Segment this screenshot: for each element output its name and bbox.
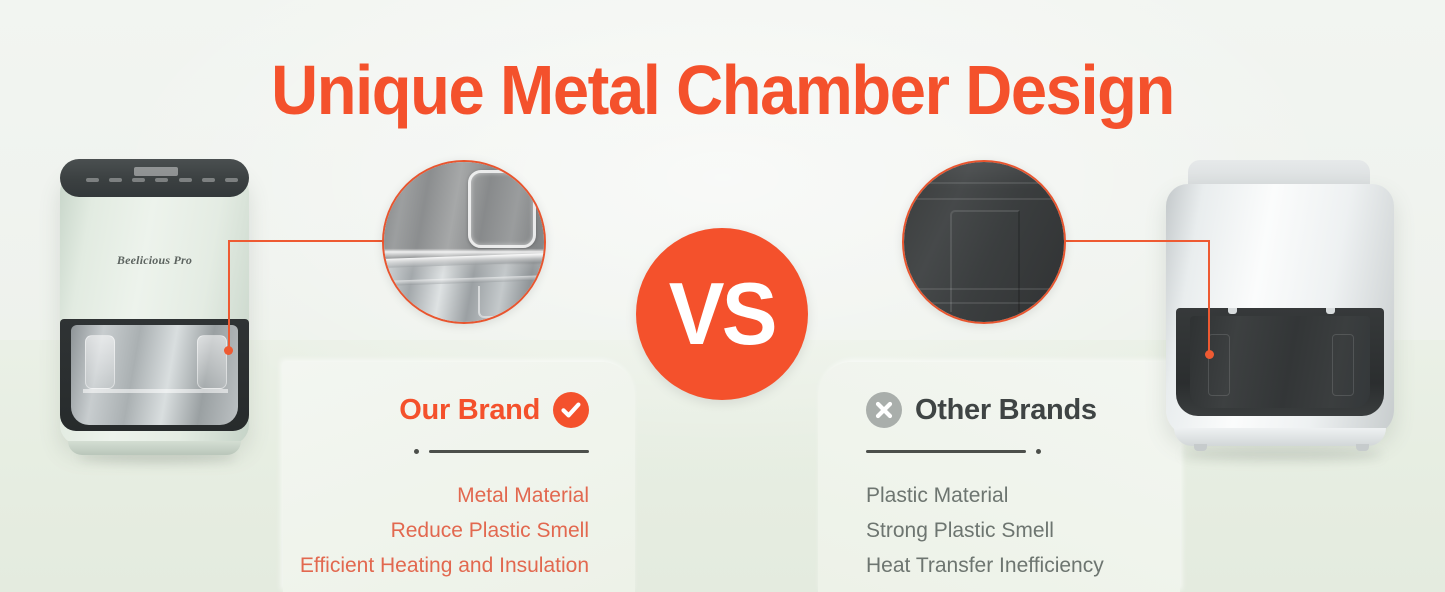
product-brand-label: Beelicious Pro	[52, 253, 257, 268]
other-brands-divider	[866, 449, 1041, 454]
plastic-seam-top	[902, 182, 1066, 184]
list-item: Metal Material	[300, 478, 589, 513]
other-brands-product-image	[1160, 160, 1405, 460]
our-brand-feature-list: Metal Material Reduce Plastic Smell Effi…	[300, 478, 589, 583]
chamber-clip-left	[1228, 308, 1237, 314]
other-brands-heading-row: Other Brands	[866, 392, 1097, 428]
our-brand-card: Our Brand Metal Material Reduce Plastic …	[283, 362, 635, 592]
right-leader-vertical	[1208, 240, 1210, 356]
cross-circle-icon	[866, 392, 902, 428]
other-brands-feature-list: Plastic Material Strong Plastic Smell He…	[866, 478, 1104, 583]
chamber-edge-right	[1332, 334, 1354, 396]
chamber-edge-left	[1208, 334, 1230, 396]
left-leader-vertical	[228, 240, 230, 352]
steel-band-upper	[382, 253, 546, 268]
product-control-panel	[60, 159, 249, 197]
chamber-handle-left	[85, 335, 115, 389]
left-leader-horizontal	[228, 240, 386, 242]
divider-dot	[1036, 449, 1041, 454]
chamber-clip-right	[1326, 308, 1335, 314]
control-buttons	[86, 172, 238, 188]
list-item: Efficient Heating and Insulation	[300, 548, 589, 583]
list-item: Reduce Plastic Smell	[300, 513, 589, 548]
black-plastic-texture	[902, 160, 1066, 324]
left-leader-dot	[224, 346, 233, 355]
list-item: Strong Plastic Smell	[866, 513, 1104, 548]
divider-dot	[414, 449, 419, 454]
our-brand-divider	[414, 449, 589, 454]
check-circle-icon	[553, 392, 589, 428]
product-foot-left	[1194, 444, 1207, 451]
steel-handle-icon	[468, 170, 536, 248]
plastic-seam-second	[902, 198, 1066, 200]
our-brand-closeup-circle	[382, 160, 546, 324]
divider-line	[429, 450, 589, 453]
right-leader-horizontal	[1062, 240, 1210, 242]
plastic-recess	[950, 210, 1020, 312]
our-brand-heading-row: Our Brand	[399, 392, 589, 428]
steel-tab	[478, 286, 493, 318]
vs-label: VS	[669, 270, 775, 358]
vs-badge: VS	[636, 228, 808, 400]
product-shadow	[1182, 448, 1382, 461]
metal-chamber	[71, 325, 238, 425]
stainless-steel-texture	[382, 160, 546, 324]
other-brands-card: Other Brands Plastic Material Strong Pla…	[818, 362, 1180, 592]
other-brands-heading: Other Brands	[915, 396, 1097, 425]
list-item: Heat Transfer Inefficiency	[866, 548, 1104, 583]
plastic-chamber	[1190, 316, 1370, 408]
chamber-rim	[83, 389, 228, 393]
product-foot-right	[1356, 444, 1369, 451]
right-leader-dot	[1205, 350, 1214, 359]
chamber-handle-right	[197, 335, 227, 389]
product-chamber-window	[60, 319, 249, 431]
divider-line	[866, 450, 1026, 453]
steel-band-lower	[382, 275, 546, 286]
list-item: Plastic Material	[866, 478, 1104, 513]
product-base	[68, 441, 241, 455]
other-brands-closeup-circle	[902, 160, 1066, 324]
page-title: Unique Metal Chamber Design	[51, 55, 1395, 125]
comparison-banner: Unique Metal Chamber Design Beelicious P…	[0, 0, 1445, 592]
our-brand-heading: Our Brand	[399, 396, 540, 425]
our-brand-product-image: Beelicious Pro	[52, 155, 257, 460]
